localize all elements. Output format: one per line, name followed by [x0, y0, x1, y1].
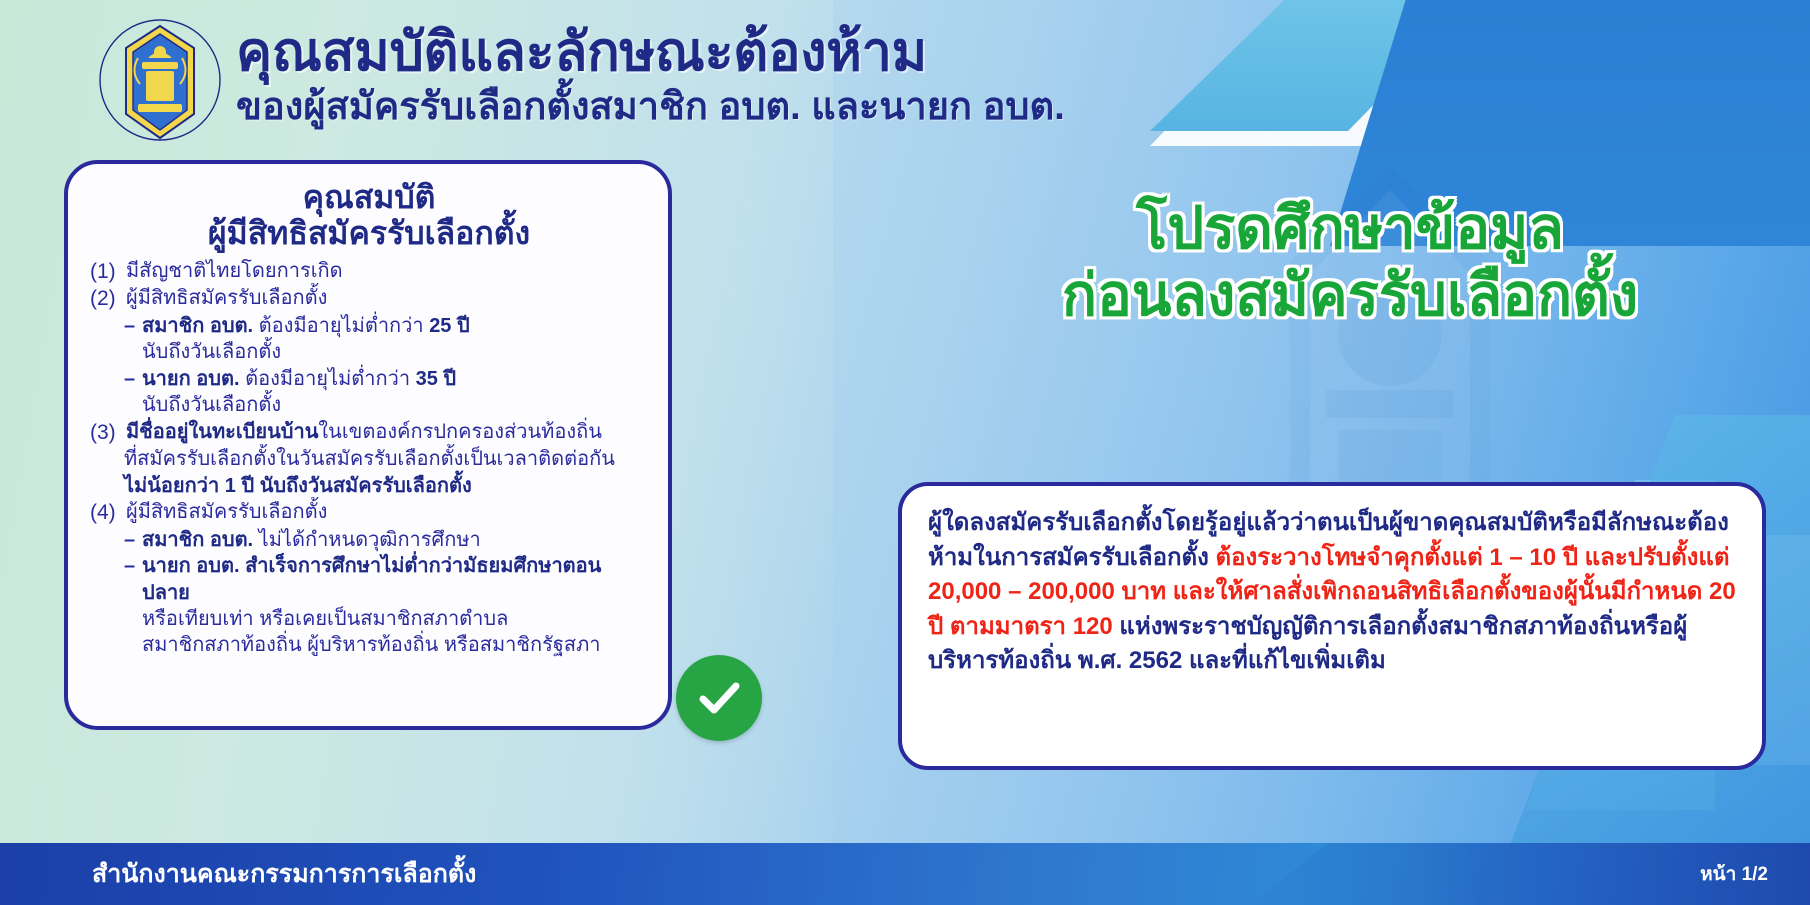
item-rest: ในเขตองค์กรปกครองส่วนท้องถิ่น [318, 421, 602, 443]
list-item: (1) มีสัญชาติไทยโดยการเกิด [90, 258, 648, 286]
item-text: มีสัญชาติไทยโดยการเกิด [126, 258, 648, 286]
qualifications-card: คุณสมบัติ ผู้มีสิทธิสมัครรับเลือกตั้ง (1… [64, 160, 672, 730]
header-title-block: คุณสมบัติและลักษณะต้องห้าม ของผู้สมัครรั… [236, 24, 1065, 130]
footer-page-number: หน้า 1/2 [1700, 859, 1768, 889]
headline-line2: ก่อนลงสมัครรับเลือกตั้ง [900, 262, 1800, 329]
card-heading-line2: ผู้มีสิทธิสมัครรับเลือกตั้ง [90, 216, 648, 252]
dash-bullet: – [124, 366, 142, 392]
list-item: (4) ผู้มีสิทธิสมัครรับเลือกตั้ง [90, 499, 648, 527]
sub-item-continuation: นับถึงวันเลือกตั้ง [142, 392, 648, 418]
sub-item-text: นายก อบต. ต้องมีอายุไม่ต่ำกว่า 35 ปี [142, 366, 456, 392]
item-lead-bold: มีชื่ออยู่ในทะเบียนบ้าน [126, 421, 318, 443]
sub-item-lead: นายก อบต. [142, 368, 240, 390]
ect-emblem-logo [98, 18, 222, 142]
item-text: ผู้มีสิทธิสมัครรับเลือกตั้ง [126, 499, 648, 527]
item-text: มีชื่ออยู่ในทะเบียนบ้านในเขตองค์กรปกครอง… [126, 419, 648, 447]
sub-item-rest: ไม่ได้กำหนดวุฒิการศึกษา [253, 529, 481, 551]
poster-footer: สำนักงานคณะกรรมการการเลือกตั้ง หน้า 1/2 [0, 843, 1810, 905]
item-number: (4) [90, 499, 126, 527]
poster-canvas: คุณสมบัติและลักษณะต้องห้าม ของผู้สมัครรั… [0, 0, 1810, 905]
item-continuation-bold: ไม่น้อยกว่า 1 ปี นับถึงวันสมัครรับเลือกต… [124, 473, 648, 499]
sub-item-mid: ต้องมีอายุไม่ต่ำกว่า [253, 315, 429, 337]
sub-item-tail: 35 ปี [416, 368, 457, 390]
sub-item-text: นายก อบต. สำเร็จการศึกษาไม่ต่ำกว่ามัธยมศ… [142, 553, 648, 606]
sub-item-tail: 25 ปี [429, 315, 470, 337]
headline-line1: โปรดศึกษาข้อมูล [900, 195, 1800, 262]
qualification-list: (1) มีสัญชาติไทยโดยการเกิด (2) ผู้มีสิทธ… [90, 258, 648, 659]
page-title: คุณสมบัติและลักษณะต้องห้าม [236, 24, 1065, 81]
sub-list-item: – สมาชิก อบต. ไม่ได้กำหนดวุฒิการศึกษา [124, 527, 648, 553]
sub-item-mid: ต้องมีอายุไม่ต่ำกว่า [240, 368, 416, 390]
item-text: ผู้มีสิทธิสมัครรับเลือกตั้ง [126, 285, 648, 313]
item-number: (3) [90, 419, 126, 447]
list-item: (3) มีชื่ออยู่ในทะเบียนบ้านในเขตองค์กรปก… [90, 419, 648, 447]
footer-organization: สำนักงานคณะกรรมการการเลือกตั้ง [92, 854, 476, 894]
sub-list-item: – นายก อบต. สำเร็จการศึกษาไม่ต่ำกว่ามัธย… [124, 553, 648, 606]
item-bold-line: ไม่น้อยกว่า 1 ปี นับถึงวันสมัครรับเลือกต… [124, 475, 472, 497]
sub-item-bold-all: นายก อบต. สำเร็จการศึกษาไม่ต่ำกว่ามัธยมศ… [142, 555, 601, 603]
penalty-warning-card: ผู้ใดลงสมัครรับเลือกตั้งโดยรู้อยู่แล้วว่… [898, 482, 1766, 770]
check-mark-icon [676, 655, 762, 741]
list-item: (2) ผู้มีสิทธิสมัครรับเลือกตั้ง [90, 285, 648, 313]
warning-paragraph: ผู้ใดลงสมัครรับเลือกตั้งโดยรู้อยู่แล้วว่… [928, 506, 1736, 679]
sub-item-continuation: นับถึงวันเลือกตั้ง [142, 339, 648, 365]
sub-item-continuation: สมาชิกสภาท้องถิ่น ผู้บริหารท้องถิ่น หรือ… [142, 632, 648, 658]
card-heading-line1: คุณสมบัติ [90, 180, 648, 216]
page-subtitle: ของผู้สมัครรับเลือกตั้งสมาชิก อบต. และนา… [236, 85, 1065, 130]
right-headline: โปรดศึกษาข้อมูล ก่อนลงสมัครรับเลือกตั้ง [900, 195, 1800, 330]
item-continuation: ที่สมัครรับเลือกตั้งในวันสมัครรับเลือกตั… [124, 446, 648, 472]
item-number: (1) [90, 258, 126, 286]
sub-list-item: – สมาชิก อบต. ต้องมีอายุไม่ต่ำกว่า 25 ปี [124, 313, 648, 339]
sub-item-text: สมาชิก อบต. ต้องมีอายุไม่ต่ำกว่า 25 ปี [142, 313, 470, 339]
dash-bullet: – [124, 553, 142, 606]
dash-bullet: – [124, 313, 142, 339]
sub-item-continuation: หรือเทียบเท่า หรือเคยเป็นสมาชิกสภาตำบล [142, 606, 648, 632]
item-number: (2) [90, 285, 126, 313]
sub-item-text: สมาชิก อบต. ไม่ได้กำหนดวุฒิการศึกษา [142, 527, 481, 553]
sub-item-lead: สมาชิก อบต. [142, 529, 253, 551]
sub-list-item: – นายก อบต. ต้องมีอายุไม่ต่ำกว่า 35 ปี [124, 366, 648, 392]
sub-item-lead: สมาชิก อบต. [142, 315, 253, 337]
poster-header: คุณสมบัติและลักษณะต้องห้าม ของผู้สมัครรั… [0, 0, 1810, 150]
dash-bullet: – [124, 527, 142, 553]
